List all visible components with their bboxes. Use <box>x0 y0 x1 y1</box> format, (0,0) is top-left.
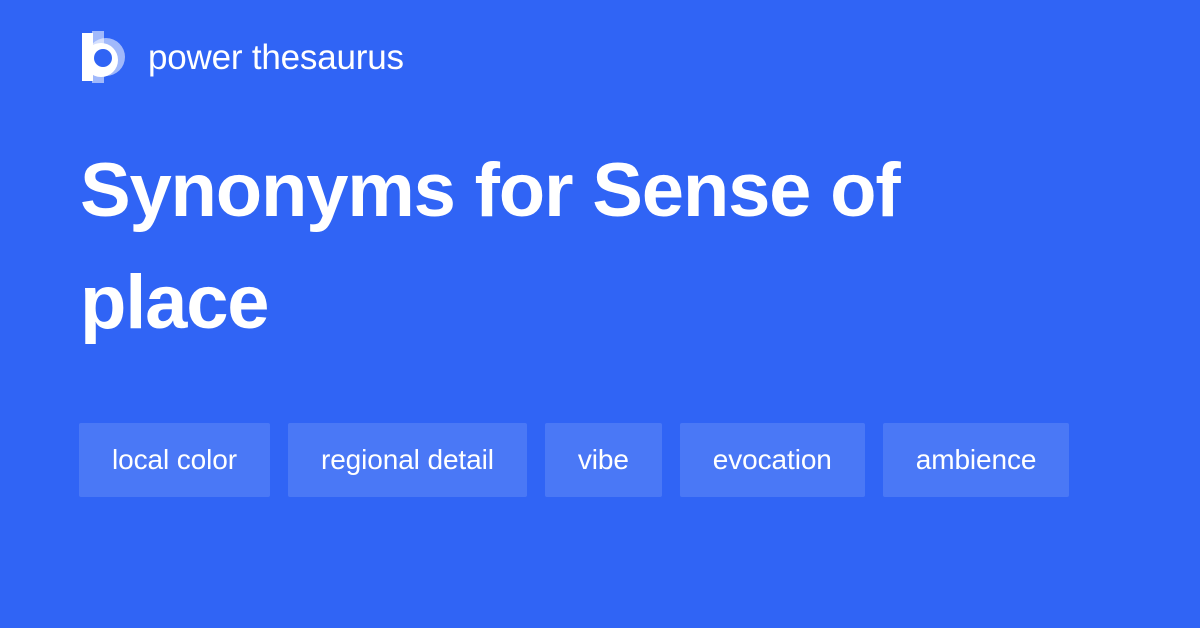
brand-header[interactable]: power thesaurus <box>80 28 404 86</box>
synonym-chip[interactable]: regional detail <box>288 423 527 497</box>
synonym-chip[interactable]: ambience <box>883 423 1070 497</box>
power-thesaurus-b-logo-icon <box>80 31 126 83</box>
page-title: Synonyms for Sense of place <box>80 135 1040 359</box>
synonym-chip[interactable]: evocation <box>680 423 865 497</box>
synonym-chip-list: local color regional detail vibe evocati… <box>79 423 1099 497</box>
synonym-chip[interactable]: vibe <box>545 423 662 497</box>
share-card: power thesaurus Synonyms for Sense of pl… <box>0 0 1200 628</box>
brand-name: power thesaurus <box>148 40 404 75</box>
synonym-chip[interactable]: local color <box>79 423 270 497</box>
